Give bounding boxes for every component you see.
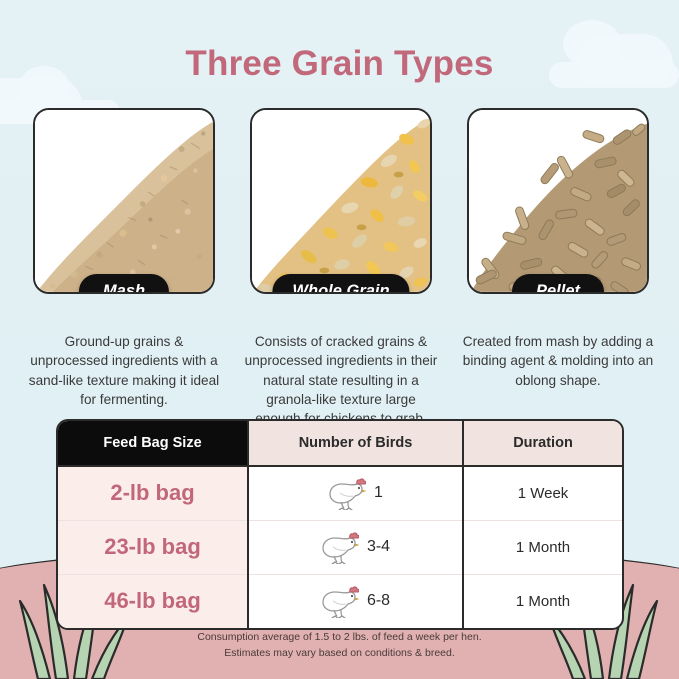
footnote-line-1: Consumption average of 1.5 to 2 lbs. of … <box>0 630 679 646</box>
cell-duration: 1 Month <box>463 574 622 628</box>
bird-count: 3-4 <box>367 538 390 556</box>
table-header-row: Feed Bag Size Number of Birds Duration <box>58 421 622 466</box>
cell-number-of-birds: 3-4 <box>248 520 463 574</box>
cell-duration: 1 Week <box>463 466 622 520</box>
cell-bag-size: 46-lb bag <box>58 574 248 628</box>
cell-bag-size: 23-lb bag <box>58 520 248 574</box>
column-header-feed-bag-size: Feed Bag Size <box>58 421 248 466</box>
chicken-icon <box>328 476 366 510</box>
table-row: 23-lb bag <box>58 520 622 574</box>
grain-photo-whole-grain: Whole Grain <box>250 108 432 294</box>
chicken-icon <box>321 530 359 564</box>
grain-label-pellet: Pellet <box>512 274 604 294</box>
column-header-duration: Duration <box>463 421 622 466</box>
cell-number-of-birds: 1 <box>248 466 463 520</box>
cell-bag-size: 2-lb bag <box>58 466 248 520</box>
chicken-icon <box>321 584 359 618</box>
grain-card-pellet: Pellet Created from mash by adding a bin… <box>467 108 649 428</box>
grain-label-mash: Mash <box>79 274 169 294</box>
grain-card-whole-grain: Whole Grain Consists of cracked grains &… <box>250 108 432 428</box>
grain-pellet-photo <box>469 110 647 292</box>
table-row: 46-lb bag <box>58 574 622 628</box>
infographic-canvas: Three Grain Types <box>0 0 679 679</box>
grain-desc-mash: Ground-up grains & unprocessed ingredien… <box>26 332 222 409</box>
table-row: 2-lb bag <box>58 466 622 520</box>
footnote-line-2: Estimates may vary based on conditions &… <box>0 646 679 662</box>
grain-photo-mash: Mash <box>33 108 215 294</box>
grain-label-whole-grain: Whole Grain <box>272 274 409 294</box>
grain-desc-pellet: Created from mash by adding a binding ag… <box>460 332 656 390</box>
grain-whole-photo <box>252 110 430 292</box>
cell-number-of-birds: 6-8 <box>248 574 463 628</box>
bird-count: 6-8 <box>367 592 390 610</box>
grain-cards: Mash Ground-up grains & unprocessed ingr… <box>33 108 646 428</box>
grain-mash-photo <box>35 110 213 292</box>
cell-duration: 1 Month <box>463 520 622 574</box>
column-header-number-of-birds: Number of Birds <box>248 421 463 466</box>
page-title: Three Grain Types <box>0 44 679 84</box>
grain-card-mash: Mash Ground-up grains & unprocessed ingr… <box>33 108 215 428</box>
feed-table: Feed Bag Size Number of Birds Duration 2… <box>56 419 624 630</box>
footnote: Consumption average of 1.5 to 2 lbs. of … <box>0 630 679 662</box>
bird-count: 1 <box>374 484 383 502</box>
grain-photo-pellet: Pellet <box>467 108 649 294</box>
grain-desc-whole-grain: Consists of cracked grains & unprocessed… <box>243 332 439 428</box>
